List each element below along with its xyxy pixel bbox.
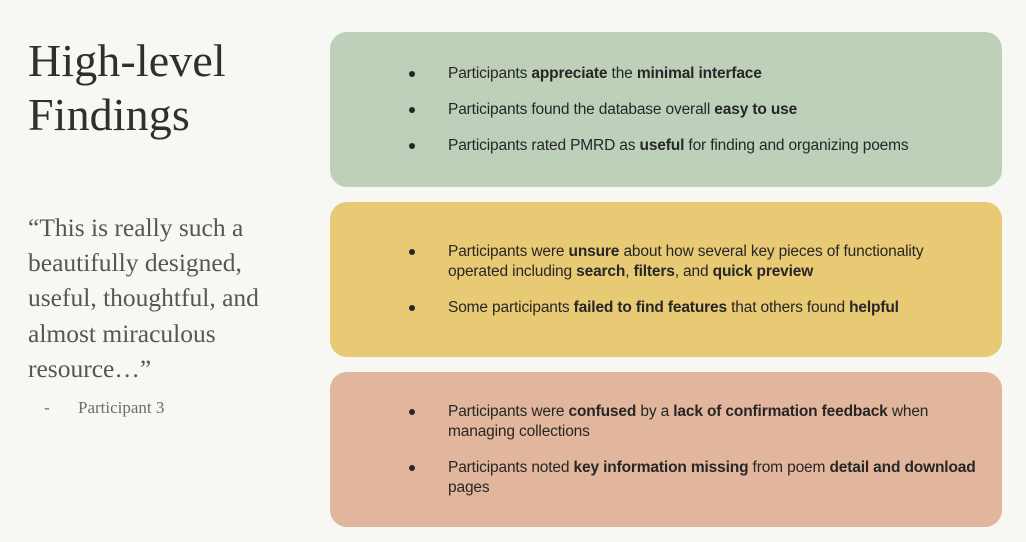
bullet-text: Participants appreciate the minimal inte…: [448, 65, 762, 82]
bullet-list: Participants were unsure about how sever…: [364, 242, 976, 318]
page-title: High-level Findings: [28, 34, 316, 142]
bullet-dot-icon: [409, 409, 415, 415]
participant-quote-text: “This is really such a beautifully desig…: [28, 210, 308, 386]
confusion-findings-card: Participants were unsure about how sever…: [330, 202, 1002, 357]
bullet-dot-icon: [409, 305, 415, 311]
bullet-text: Some participants failed to find feature…: [448, 299, 899, 316]
bullet-item: Participants were confused by a lack of …: [364, 402, 976, 442]
positive-findings-card: Participants appreciate the minimal inte…: [330, 32, 1002, 187]
bullet-list: Participants were confused by a lack of …: [364, 402, 976, 498]
bullet-dot-icon: [409, 143, 415, 149]
bullet-text: Participants were confused by a lack of …: [448, 403, 928, 440]
bullet-text: Participants found the database overall …: [448, 101, 797, 118]
bullet-item: Some participants failed to find feature…: [364, 298, 976, 318]
attribution-name: Participant 3: [78, 398, 164, 418]
quote-attribution: - Participant 3: [44, 398, 164, 418]
bullet-dot-icon: [409, 107, 415, 113]
participant-quote-block: “This is really such a beautifully desig…: [28, 210, 308, 386]
bullet-dot-icon: [409, 249, 415, 255]
bullet-dot-icon: [409, 71, 415, 77]
bullet-item: Participants noted key information missi…: [364, 458, 976, 498]
bullet-text: Participants noted key information missi…: [448, 459, 976, 496]
attribution-dash: -: [44, 398, 78, 418]
bullet-text: Participants were unsure about how sever…: [448, 243, 923, 280]
slide-canvas: High-level Findings “This is really such…: [0, 0, 1026, 542]
bullet-list: Participants appreciate the minimal inte…: [364, 64, 976, 156]
bullet-item: Participants appreciate the minimal inte…: [364, 64, 976, 84]
bullet-item: Participants found the database overall …: [364, 100, 976, 120]
left-column: High-level Findings: [28, 34, 316, 142]
problems-findings-card: Participants were confused by a lack of …: [330, 372, 1002, 527]
bullet-dot-icon: [409, 465, 415, 471]
bullet-item: Participants rated PMRD as useful for fi…: [364, 136, 976, 156]
bullet-item: Participants were unsure about how sever…: [364, 242, 976, 282]
bullet-text: Participants rated PMRD as useful for fi…: [448, 137, 909, 154]
